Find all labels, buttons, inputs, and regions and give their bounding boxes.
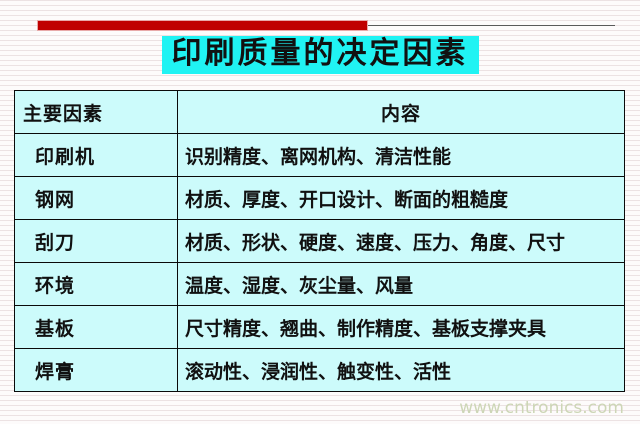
cell-factor: 环境: [15, 263, 178, 306]
cell-content: 温度、湿度、灰尘量、风量: [178, 263, 625, 306]
title-container: 印刷质量的决定因素: [0, 36, 640, 74]
cell-factor: 基板: [15, 306, 178, 349]
quality-factors-table: 主要因素 内容 印刷机 识别精度、离网机构、清洁性能 钢网 材质、厚度、开口设计…: [14, 90, 625, 392]
table-body: 印刷机 识别精度、离网机构、清洁性能 钢网 材质、厚度、开口设计、断面的粗糙度 …: [15, 134, 625, 392]
table-header-row: 主要因素 内容: [15, 91, 625, 134]
page-title: 印刷质量的决定因素: [162, 36, 479, 74]
site-watermark: www.cntronics.com: [459, 398, 624, 418]
cell-content: 材质、形状、硬度、速度、压力、角度、尺寸: [178, 220, 625, 263]
table-row: 钢网 材质、厚度、开口设计、断面的粗糙度: [15, 177, 625, 220]
cell-content: 材质、厚度、开口设计、断面的粗糙度: [178, 177, 625, 220]
table-row: 焊膏 滚动性、浸润性、触变性、活性: [15, 349, 625, 392]
column-header-content: 内容: [178, 91, 625, 134]
cell-factor: 刮刀: [15, 220, 178, 263]
table-row: 印刷机 识别精度、离网机构、清洁性能: [15, 134, 625, 177]
cell-content: 识别精度、离网机构、清洁性能: [178, 134, 625, 177]
cell-content: 尺寸精度、翘曲、制作精度、基板支撑夹具: [178, 306, 625, 349]
accent-bar: [37, 20, 368, 31]
column-header-factor: 主要因素: [15, 91, 178, 134]
table-row: 基板 尺寸精度、翘曲、制作精度、基板支撑夹具: [15, 306, 625, 349]
cell-content: 滚动性、浸润性、触变性、活性: [178, 349, 625, 392]
cell-factor: 钢网: [15, 177, 178, 220]
cell-factor: 印刷机: [15, 134, 178, 177]
slide-canvas: 印刷质量的决定因素 主要因素 内容 印刷机 识别精度、离网机构、清洁性能 钢网 …: [0, 0, 640, 424]
table-row: 环境 温度、湿度、灰尘量、风量: [15, 263, 625, 306]
table-row: 刮刀 材质、形状、硬度、速度、压力、角度、尺寸: [15, 220, 625, 263]
cell-factor: 焊膏: [15, 349, 178, 392]
table-header: 主要因素 内容: [15, 91, 625, 134]
